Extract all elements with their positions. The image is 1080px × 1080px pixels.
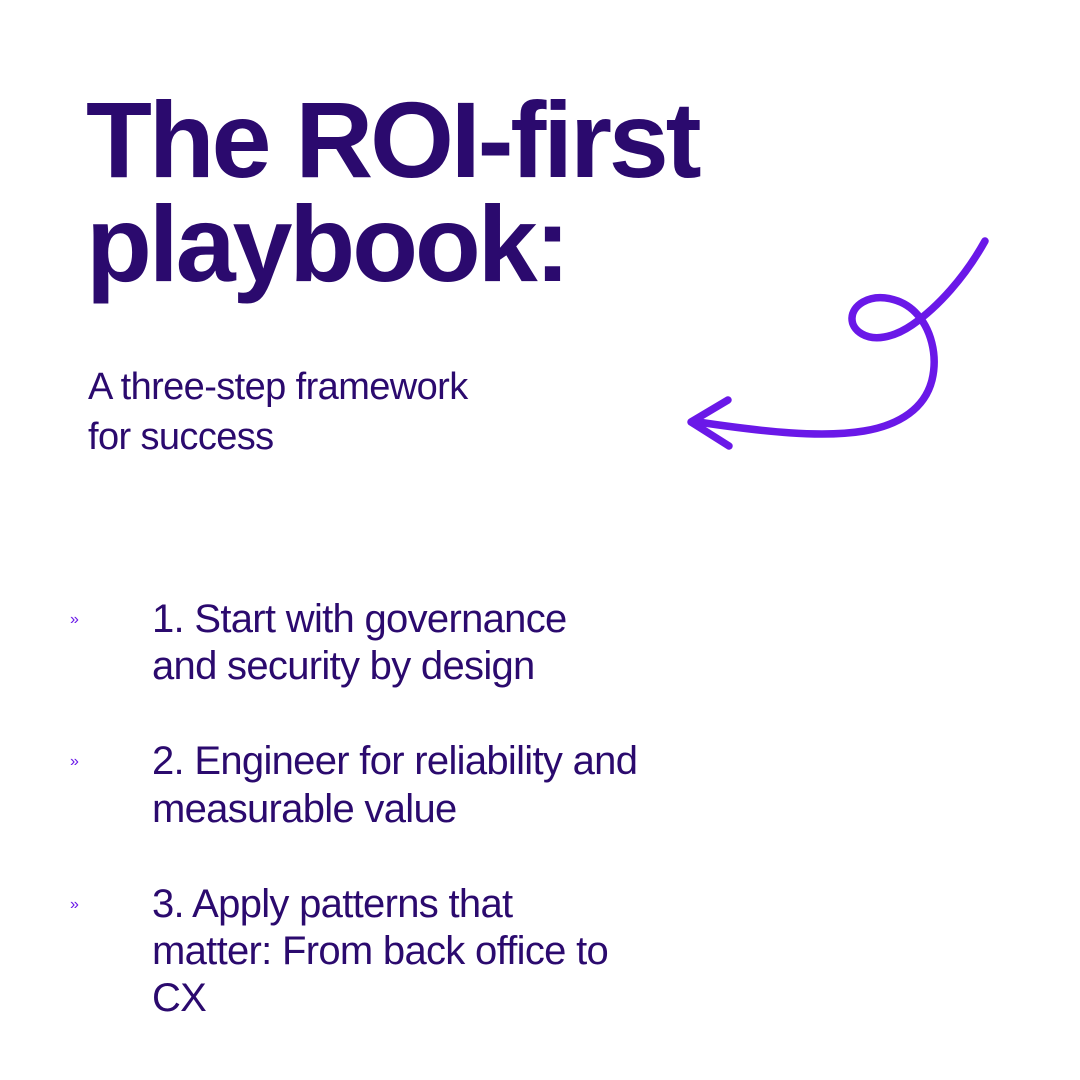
list-item: » 1. Start with governance and security … <box>66 596 766 690</box>
double-chevron-icon: » <box>70 897 114 937</box>
list-item-label: 3. Apply patterns that matter: From back… <box>152 881 766 1023</box>
double-chevron-icon: » <box>70 754 114 794</box>
list-item: » 3. Apply patterns that matter: From ba… <box>66 881 766 1023</box>
page-title: The ROI-first playbook: <box>86 88 886 295</box>
list-item-label: 1. Start with governance and security by… <box>152 596 766 690</box>
steps-list: » 1. Start with governance and security … <box>66 596 766 1022</box>
list-item: » 2. Engineer for reliability and measur… <box>66 738 766 832</box>
poster-canvas: The ROI-first playbook: A three-step fra… <box>0 0 1080 1080</box>
page-subtitle: A three-step framework for success <box>88 362 708 462</box>
list-item-label: 2. Engineer for reliability and measurab… <box>152 738 766 832</box>
double-chevron-icon: » <box>70 612 114 652</box>
